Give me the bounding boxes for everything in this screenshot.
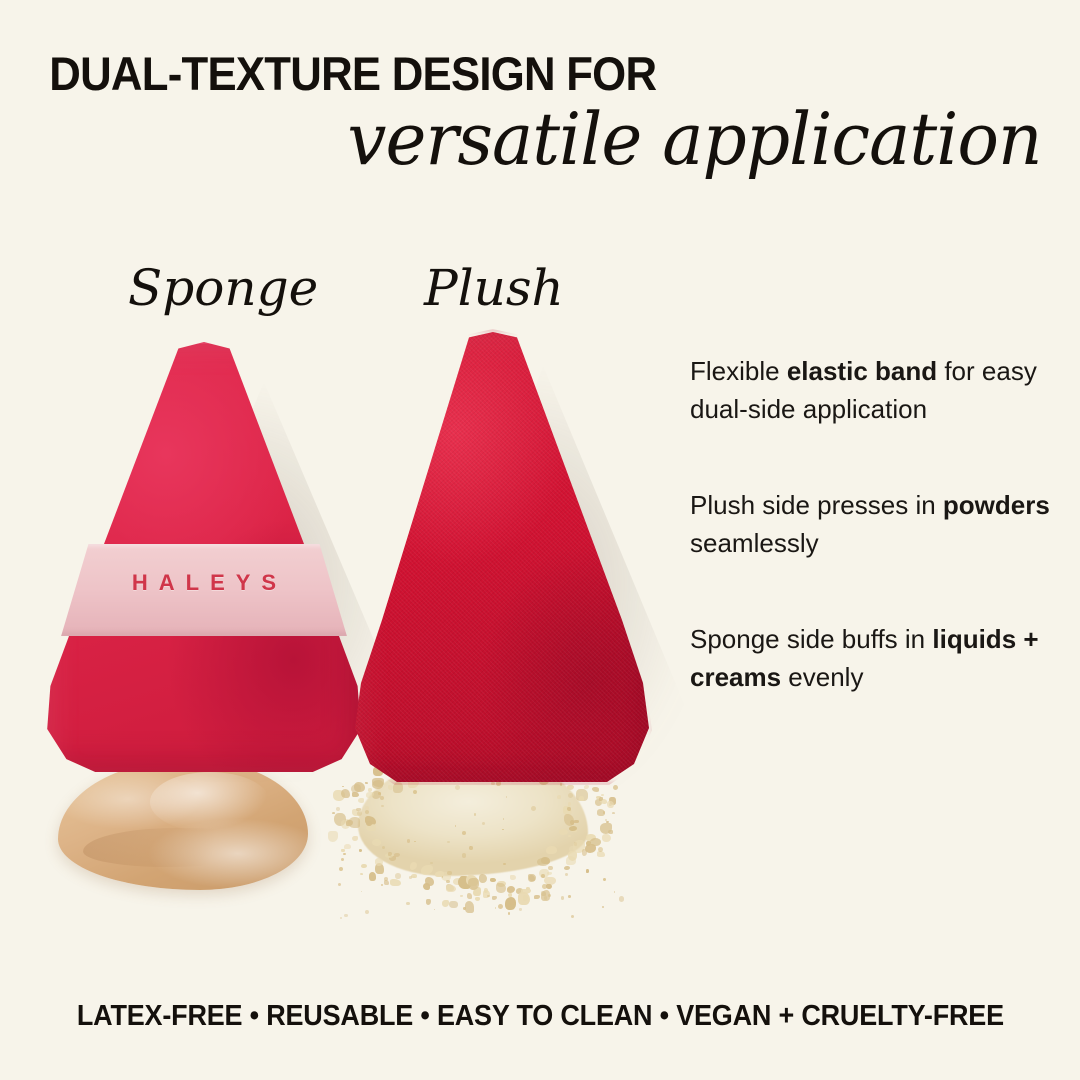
powder-crumb bbox=[529, 875, 534, 881]
powder-crumb bbox=[372, 839, 381, 845]
powder-speck bbox=[498, 904, 503, 909]
headline-line-1: DUAL-TEXTURE DESIGN FOR bbox=[0, 48, 1004, 100]
powder-speck bbox=[455, 785, 460, 790]
powder-speck bbox=[619, 896, 624, 901]
powder-speck bbox=[381, 884, 383, 886]
powder-crumb bbox=[426, 899, 431, 905]
powder-crumb bbox=[341, 849, 344, 853]
brand-wordmark: HALEYS bbox=[52, 570, 356, 596]
powder-speck bbox=[344, 914, 347, 917]
powder-crumb bbox=[592, 787, 599, 792]
powder-crumb bbox=[442, 900, 449, 907]
powder-crumb bbox=[601, 794, 604, 796]
powder-speck bbox=[430, 862, 432, 864]
powder-speck bbox=[565, 873, 568, 876]
powder-crumb bbox=[582, 849, 588, 856]
product-label-plush: Plush bbox=[424, 263, 564, 313]
powder-speck bbox=[542, 884, 547, 889]
footer-claims: LATEX-FREE • REUSABLE • EASY TO CLEAN • … bbox=[0, 1000, 1080, 1033]
powder-speck bbox=[365, 810, 369, 814]
powder-crumb bbox=[534, 895, 539, 899]
powder-crumb bbox=[361, 864, 367, 868]
powder-crumb bbox=[496, 883, 505, 893]
powder-crumb bbox=[465, 901, 475, 912]
footer-claims-text: LATEX-FREE • REUSABLE • EASY TO CLEAN • … bbox=[76, 1000, 1003, 1033]
powder-crumb bbox=[546, 846, 557, 855]
powder-speck bbox=[462, 831, 466, 835]
powder-crumb bbox=[359, 849, 362, 852]
feature-item-powders: Plush side presses in powders seamlessly bbox=[690, 486, 1060, 562]
powder-crumb bbox=[394, 853, 400, 857]
powder-speck bbox=[338, 883, 341, 886]
powder-crumb bbox=[568, 851, 577, 861]
powder-speck bbox=[519, 908, 521, 910]
feature-list: Flexible elastic band for easy dual-side… bbox=[690, 352, 1060, 696]
powder-crumb bbox=[354, 782, 365, 792]
powder-speck bbox=[548, 894, 551, 897]
powder-crumb bbox=[541, 891, 546, 895]
powder-speck bbox=[357, 811, 362, 816]
powder-crumb bbox=[468, 878, 479, 889]
powder-crumb bbox=[492, 896, 497, 900]
headline: DUAL-TEXTURE DESIGN FOR versatile applic… bbox=[0, 48, 1080, 178]
powder-speck bbox=[603, 878, 606, 881]
powder-speck bbox=[541, 874, 545, 878]
powder-crumb bbox=[557, 795, 561, 798]
powder-speck bbox=[462, 853, 467, 858]
powder-crumb bbox=[607, 801, 613, 808]
powder-speck bbox=[409, 876, 412, 879]
powder-crumb bbox=[547, 872, 552, 875]
powder-crumb bbox=[352, 836, 358, 841]
powder-speck bbox=[447, 841, 449, 843]
powder-speck bbox=[340, 917, 342, 919]
powder-crumb bbox=[579, 796, 584, 801]
powder-crumb bbox=[518, 892, 530, 905]
powder-speck bbox=[474, 813, 476, 815]
powder-speck bbox=[434, 909, 435, 910]
feature-highlight: powders bbox=[943, 490, 1050, 520]
powder-crumb bbox=[460, 895, 463, 897]
powder-speck bbox=[548, 866, 553, 871]
powder-speck bbox=[571, 915, 574, 918]
powder-crumb bbox=[537, 858, 549, 866]
feature-item-liquids-creams: Sponge side buffs in liquids + creams ev… bbox=[690, 620, 1060, 696]
powder-crumb bbox=[546, 884, 552, 889]
powder-speck bbox=[343, 853, 345, 855]
feature-highlight: liquids + creams bbox=[690, 624, 1039, 692]
feature-item-elastic-band: Flexible elastic band for easy dual-side… bbox=[690, 352, 1060, 428]
powder-speck bbox=[365, 910, 369, 914]
powder-crumb bbox=[510, 875, 516, 880]
powder-speck bbox=[605, 819, 607, 821]
powder-crumb bbox=[341, 789, 349, 798]
powder-speck bbox=[339, 867, 343, 871]
powder-crumb bbox=[564, 866, 570, 870]
powder-crumb bbox=[425, 877, 434, 885]
powder-crumb bbox=[390, 879, 400, 886]
powder-crumb bbox=[510, 899, 515, 905]
powder-speck bbox=[446, 880, 449, 883]
powder-crumb bbox=[328, 831, 338, 841]
powder-crumb bbox=[564, 814, 574, 825]
powder-crumb bbox=[612, 812, 615, 815]
product-label-sponge: Sponge bbox=[128, 263, 318, 313]
product-marketing-card: DUAL-TEXTURE DESIGN FOR versatile applic… bbox=[0, 0, 1080, 1080]
powder-crumb bbox=[590, 838, 602, 846]
powder-speck bbox=[380, 796, 384, 800]
powder-speck bbox=[455, 825, 456, 826]
powder-speck bbox=[469, 846, 472, 849]
feature-highlight: elastic band bbox=[787, 356, 937, 386]
powder-speck bbox=[342, 786, 343, 787]
powder-crumb bbox=[475, 897, 479, 901]
powder-crumb bbox=[586, 869, 590, 873]
powder-speck bbox=[495, 907, 496, 908]
powder-crumb bbox=[344, 844, 350, 848]
powder-crumb bbox=[449, 901, 458, 909]
powder-crumb bbox=[446, 885, 456, 892]
powder-speck bbox=[561, 896, 564, 899]
powder-crumb bbox=[369, 872, 376, 880]
powder-speck bbox=[568, 895, 571, 898]
powder-crumb bbox=[490, 878, 496, 882]
powder-speck bbox=[614, 891, 615, 892]
powder-speck bbox=[544, 896, 547, 899]
powder-crumb bbox=[360, 873, 363, 875]
powder-speck bbox=[568, 793, 573, 798]
powder-crumb bbox=[602, 834, 611, 842]
powder-speck bbox=[336, 807, 340, 811]
powder-crumb bbox=[365, 782, 368, 784]
powder-crumb bbox=[346, 820, 352, 826]
headline-line-2: versatile application bbox=[43, 100, 1080, 178]
powder-speck bbox=[602, 906, 604, 908]
powder-speck bbox=[508, 912, 511, 915]
powder-crumb bbox=[412, 876, 415, 878]
powder-speck bbox=[395, 873, 400, 878]
powder-crumb bbox=[479, 874, 487, 883]
product-plush bbox=[352, 332, 652, 782]
powder-speck bbox=[603, 811, 606, 814]
powder-speck bbox=[463, 907, 465, 909]
powder-crumb bbox=[352, 792, 359, 797]
powder-crumb bbox=[358, 798, 364, 803]
product-sponge: HALEYS bbox=[44, 342, 364, 772]
powder-crumb bbox=[467, 893, 473, 899]
powder-crumb bbox=[567, 807, 571, 811]
product-stage: HALEYS bbox=[0, 320, 680, 980]
powder-speck bbox=[361, 891, 362, 892]
powder-speck bbox=[406, 902, 409, 905]
powder-crumb bbox=[559, 829, 568, 835]
powder-speck bbox=[341, 858, 345, 862]
powder-speck bbox=[447, 871, 452, 876]
